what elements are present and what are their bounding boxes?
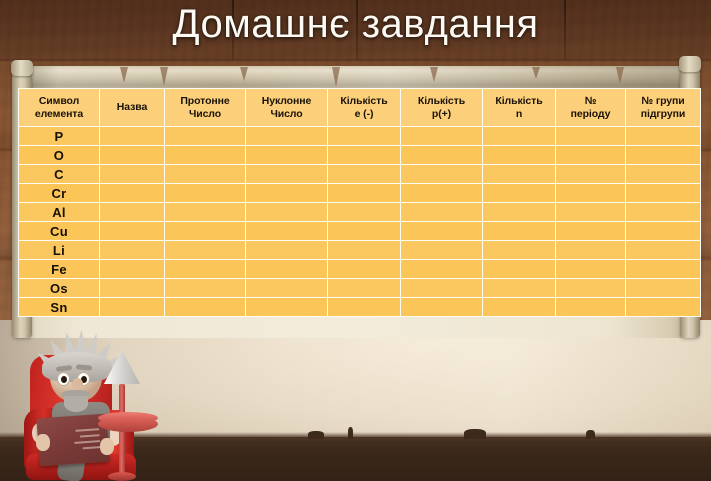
cell-proton-number[interactable] xyxy=(165,146,246,165)
cell-name[interactable] xyxy=(100,279,165,298)
cell-neutrons[interactable] xyxy=(483,279,556,298)
col-header-name: Назва xyxy=(100,89,165,127)
cell-symbol[interactable]: Sn xyxy=(19,298,100,317)
cell-protons[interactable] xyxy=(401,298,483,317)
cell-proton-number[interactable] xyxy=(165,203,246,222)
cell-name[interactable] xyxy=(100,184,165,203)
cell-name[interactable] xyxy=(100,298,165,317)
cell-nucleon-number[interactable] xyxy=(246,127,328,146)
table-row: O xyxy=(19,146,701,165)
cell-group[interactable] xyxy=(626,241,701,260)
cell-neutrons[interactable] xyxy=(483,298,556,317)
col-header-symbol: Символ елемента xyxy=(19,89,100,127)
cell-protons[interactable] xyxy=(401,279,483,298)
cell-period[interactable] xyxy=(556,165,626,184)
cell-neutrons[interactable] xyxy=(483,184,556,203)
cell-period[interactable] xyxy=(556,298,626,317)
cell-nucleon-number[interactable] xyxy=(246,146,328,165)
character-beard xyxy=(64,396,88,412)
scroll-left-cap xyxy=(11,60,33,76)
cell-electrons[interactable] xyxy=(328,146,401,165)
table-row: Cr xyxy=(19,184,701,203)
cell-nucleon-number[interactable] xyxy=(246,184,328,203)
cell-nucleon-number[interactable] xyxy=(246,279,328,298)
cell-group[interactable] xyxy=(626,127,701,146)
cell-neutrons[interactable] xyxy=(483,203,556,222)
side-table xyxy=(98,416,158,432)
character-left-hand xyxy=(36,434,50,451)
col-header-group: № групи підгрупи xyxy=(626,89,701,127)
cell-symbol[interactable]: C xyxy=(19,165,100,184)
cell-group[interactable] xyxy=(626,203,701,222)
slide-title: Домашнє завдання xyxy=(0,0,711,50)
cell-name[interactable] xyxy=(100,165,165,184)
cell-group[interactable] xyxy=(626,146,701,165)
cell-nucleon-number[interactable] xyxy=(246,203,328,222)
col-header-protons: Кількість р(+) xyxy=(401,89,483,127)
cell-electrons[interactable] xyxy=(328,298,401,317)
homework-table: Символ елемента Назва Протонне Число Нук… xyxy=(18,88,701,317)
cell-symbol[interactable]: Cu xyxy=(19,222,100,241)
cell-neutrons[interactable] xyxy=(483,222,556,241)
cell-period[interactable] xyxy=(556,222,626,241)
cell-period[interactable] xyxy=(556,260,626,279)
cell-protons[interactable] xyxy=(401,203,483,222)
scroll-right-cap xyxy=(679,56,701,72)
cell-symbol[interactable]: O xyxy=(19,146,100,165)
cell-name[interactable] xyxy=(100,127,165,146)
cell-name[interactable] xyxy=(100,241,165,260)
cell-electrons[interactable] xyxy=(328,222,401,241)
cell-proton-number[interactable] xyxy=(165,260,246,279)
cell-period[interactable] xyxy=(556,184,626,203)
cell-protons[interactable] xyxy=(401,222,483,241)
cell-nucleon-number[interactable] xyxy=(246,222,328,241)
illustration-scientist-scene xyxy=(0,330,260,481)
col-header-period: № періоду xyxy=(556,89,626,127)
cell-nucleon-number[interactable] xyxy=(246,165,328,184)
cell-group[interactable] xyxy=(626,279,701,298)
cell-symbol[interactable]: Li xyxy=(19,241,100,260)
cell-period[interactable] xyxy=(556,203,626,222)
cell-proton-number[interactable] xyxy=(165,184,246,203)
table-row: Fe xyxy=(19,260,701,279)
cell-neutrons[interactable] xyxy=(483,127,556,146)
cell-neutrons[interactable] xyxy=(483,241,556,260)
cell-name[interactable] xyxy=(100,146,165,165)
cell-protons[interactable] xyxy=(401,146,483,165)
slide-canvas: Домашнє завдання Символ елемента xyxy=(0,0,711,481)
cell-symbol[interactable]: Al xyxy=(19,203,100,222)
character-right-hand xyxy=(100,438,114,455)
cell-group[interactable] xyxy=(626,260,701,279)
cell-protons[interactable] xyxy=(401,241,483,260)
cell-protons[interactable] xyxy=(401,127,483,146)
cell-period[interactable] xyxy=(556,279,626,298)
table-body: POCCrAlCuLiFeOsSn xyxy=(19,127,701,317)
cell-proton-number[interactable] xyxy=(165,165,246,184)
cell-electrons[interactable] xyxy=(328,184,401,203)
cell-neutrons[interactable] xyxy=(483,146,556,165)
table-row: C xyxy=(19,165,701,184)
cell-nucleon-number[interactable] xyxy=(246,298,328,317)
col-header-electrons: Кількість е (-) xyxy=(328,89,401,127)
cell-neutrons[interactable] xyxy=(483,260,556,279)
cell-electrons[interactable] xyxy=(328,279,401,298)
cell-name[interactable] xyxy=(100,222,165,241)
lamp-shade xyxy=(104,350,140,384)
cell-period[interactable] xyxy=(556,146,626,165)
character-left-eye xyxy=(57,372,70,386)
cell-symbol[interactable]: Fe xyxy=(19,260,100,279)
character-nose xyxy=(72,378,83,390)
cell-proton-number[interactable] xyxy=(165,298,246,317)
cell-proton-number[interactable] xyxy=(165,222,246,241)
cell-electrons[interactable] xyxy=(328,127,401,146)
table-row: Al xyxy=(19,203,701,222)
cell-protons[interactable] xyxy=(401,165,483,184)
cell-electrons[interactable] xyxy=(328,241,401,260)
cell-period[interactable] xyxy=(556,127,626,146)
cell-symbol[interactable]: Cr xyxy=(19,184,100,203)
cell-symbol[interactable]: Os xyxy=(19,279,100,298)
cell-period[interactable] xyxy=(556,241,626,260)
cell-protons[interactable] xyxy=(401,260,483,279)
cell-electrons[interactable] xyxy=(328,165,401,184)
table-row: Cu xyxy=(19,222,701,241)
cell-name[interactable] xyxy=(100,260,165,279)
cell-nucleon-number[interactable] xyxy=(246,241,328,260)
cell-proton-number[interactable] xyxy=(165,279,246,298)
col-header-proton-number: Протонне Число xyxy=(165,89,246,127)
cell-group[interactable] xyxy=(626,222,701,241)
cell-electrons[interactable] xyxy=(328,260,401,279)
col-header-neutrons: Кількість n xyxy=(483,89,556,127)
cell-group[interactable] xyxy=(626,184,701,203)
table-header-row: Символ елемента Назва Протонне Число Нук… xyxy=(19,89,701,127)
cell-neutrons[interactable] xyxy=(483,165,556,184)
cell-symbol[interactable]: P xyxy=(19,127,100,146)
table-row: Sn xyxy=(19,298,701,317)
cell-proton-number[interactable] xyxy=(165,127,246,146)
cell-proton-number[interactable] xyxy=(165,241,246,260)
cell-nucleon-number[interactable] xyxy=(246,260,328,279)
cell-protons[interactable] xyxy=(401,184,483,203)
cell-group[interactable] xyxy=(626,165,701,184)
cell-group[interactable] xyxy=(626,298,701,317)
table-row: P xyxy=(19,127,701,146)
lamp-base xyxy=(108,472,136,481)
cell-electrons[interactable] xyxy=(328,203,401,222)
cell-name[interactable] xyxy=(100,203,165,222)
col-header-nucleon-number: Нуклонне Число xyxy=(246,89,328,127)
table-row: Os xyxy=(19,279,701,298)
table-row: Li xyxy=(19,241,701,260)
